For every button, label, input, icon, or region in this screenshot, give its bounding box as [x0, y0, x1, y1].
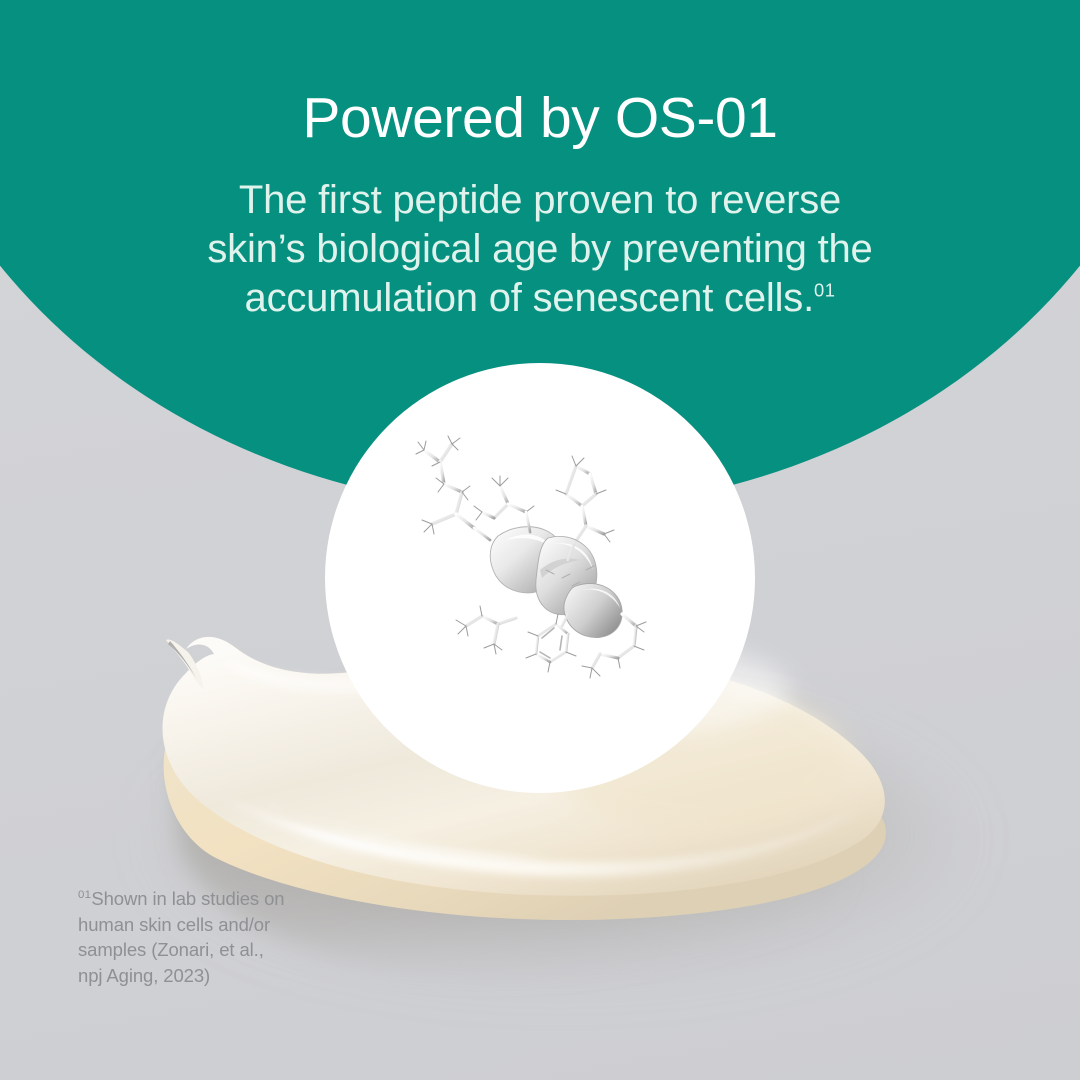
subheadline-line-2: skin’s biological age by preventing the	[207, 227, 872, 271]
subheadline-line-3: accumulation of senescent cells.	[245, 276, 814, 320]
hero-copy: Powered by OS-01 The first peptide prove…	[0, 0, 1080, 323]
molecule-disc	[325, 363, 755, 793]
promo-canvas: Powered by OS-01 The first peptide prove…	[0, 0, 1080, 1080]
subheadline-line-1: The first peptide proven to reverse	[239, 178, 841, 222]
hero-subheadline: The first peptide proven to reverse skin…	[0, 148, 1080, 322]
footnote: 01Shown in lab studies on human skin cel…	[78, 886, 288, 988]
subheadline-footnote-marker: 01	[814, 280, 835, 301]
peptide-molecule-icon	[390, 428, 690, 728]
footnote-marker: 01	[78, 889, 91, 901]
footnote-text: Shown in lab studies on human skin cells…	[78, 888, 284, 986]
page-title: Powered by OS-01	[0, 0, 1080, 148]
